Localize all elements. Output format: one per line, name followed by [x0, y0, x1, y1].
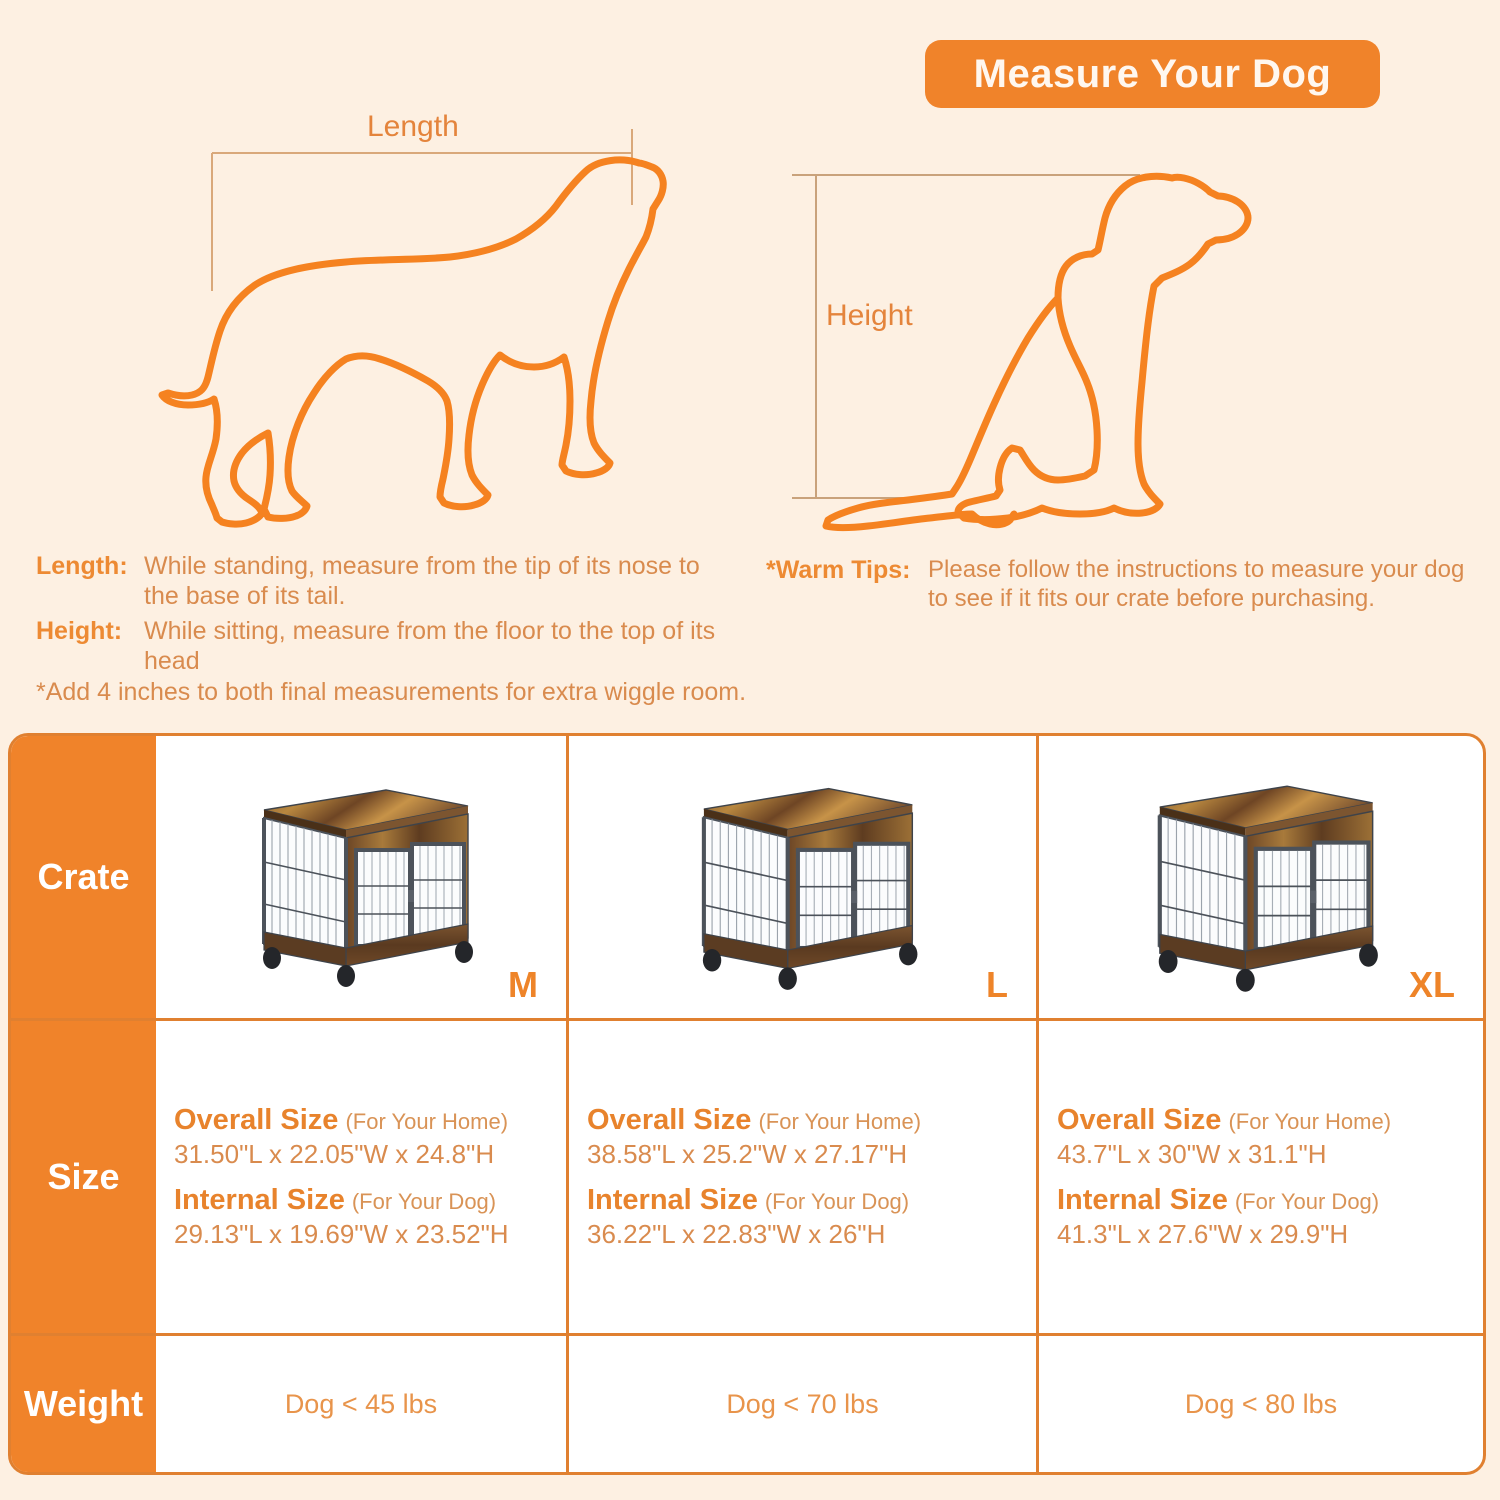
dog-crate-furniture-icon [658, 760, 948, 995]
table-row-crate: Crate [11, 736, 1483, 1021]
overall-value-xl: 43.7"L x 30"W x 31.1"H [1057, 1139, 1465, 1170]
warm-tips-key: *Warm Tips: [766, 556, 928, 614]
overall-sub-m: (For Your Home) [345, 1109, 508, 1134]
internal-heading-l: Internal Size(For Your Dog) [587, 1184, 1018, 1217]
size-comparison-table: Crate [8, 733, 1486, 1475]
table-row-weight: Weight Dog < 45 lbs Dog < 70 lbs Dog < 8… [11, 1336, 1483, 1472]
size-cell-xl: Overall Size(For Your Home) 43.7"L x 30"… [1036, 1021, 1483, 1333]
overall-value-m: 31.50"L x 22.05"W x 24.8"H [174, 1139, 548, 1170]
dog-sitting-diagram [780, 150, 1300, 545]
size-cell-m: Overall Size(For Your Home) 31.50"L x 22… [156, 1021, 566, 1333]
overall-heading-l: Overall Size(For Your Home) [587, 1104, 1018, 1137]
crate-cell-l: L [566, 736, 1036, 1018]
internal-value-m: 29.13"L x 19.69"W x 23.52"H [174, 1219, 548, 1250]
badge-label: Measure Your Dog [974, 52, 1332, 97]
dog-crate-furniture-icon [236, 762, 486, 992]
overall-label-l: Overall Size [587, 1104, 751, 1136]
instruction-length-text: While standing, measure from the tip of … [144, 552, 736, 611]
internal-value-xl: 41.3"L x 27.6"W x 29.9"H [1057, 1219, 1465, 1250]
weight-cell-m: Dog < 45 lbs [156, 1336, 566, 1472]
internal-heading-xl: Internal Size(For Your Dog) [1057, 1184, 1465, 1217]
weight-value-xl: Dog < 80 lbs [1185, 1389, 1337, 1420]
row-label-weight: Weight [11, 1336, 156, 1472]
internal-sub-m: (For Your Dog) [352, 1189, 496, 1214]
internal-value-l: 36.22"L x 22.83"W x 26"H [587, 1219, 1018, 1250]
row-label-crate: Crate [11, 736, 156, 1018]
overall-value-l: 38.58"L x 25.2"W x 27.17"H [587, 1139, 1018, 1170]
weight-value-l: Dog < 70 lbs [726, 1389, 878, 1420]
size-tag-xl: XL [1409, 964, 1455, 1006]
crate-image-l [569, 736, 1036, 1018]
internal-label-m: Internal Size [174, 1184, 345, 1216]
instruction-length: Length: While standing, measure from the… [36, 552, 736, 611]
row-label-size: Size [11, 1021, 156, 1333]
measure-your-dog-badge: Measure Your Dog [925, 40, 1380, 108]
overall-label-xl: Overall Size [1057, 1104, 1221, 1136]
crate-cell-xl: XL [1036, 736, 1483, 1018]
instructions-block: Length: While standing, measure from the… [36, 552, 736, 682]
size-tag-l: L [986, 964, 1008, 1006]
instruction-height-key: Height: [36, 617, 144, 676]
instruction-height: Height: While sitting, measure from the … [36, 617, 736, 676]
infographic-root: Measure Your Dog Length Height [0, 0, 1500, 1500]
length-dimension-label: Length [367, 110, 459, 144]
weight-cell-l: Dog < 70 lbs [566, 1336, 1036, 1472]
wiggle-room-note: *Add 4 inches to both final measurements… [36, 678, 746, 707]
overall-sub-l: (For Your Home) [758, 1109, 921, 1134]
overall-heading-m: Overall Size(For Your Home) [174, 1104, 548, 1137]
dog-standing-outline-icon [150, 105, 670, 535]
crate-image-m [156, 736, 566, 1018]
weight-cell-xl: Dog < 80 lbs [1036, 1336, 1483, 1472]
overall-label-m: Overall Size [174, 1104, 338, 1136]
size-cell-l: Overall Size(For Your Home) 38.58"L x 25… [566, 1021, 1036, 1333]
height-dimension-label: Height [826, 299, 913, 333]
overall-heading-xl: Overall Size(For Your Home) [1057, 1104, 1465, 1137]
internal-label-xl: Internal Size [1057, 1184, 1228, 1216]
weight-value-m: Dog < 45 lbs [285, 1389, 437, 1420]
size-tag-m: M [508, 964, 538, 1006]
warm-tips-block: *Warm Tips: Please follow the instructio… [766, 556, 1486, 614]
overall-sub-xl: (For Your Home) [1228, 1109, 1391, 1134]
dog-crate-furniture-icon [1096, 757, 1426, 997]
dog-sitting-outline-icon [780, 150, 1300, 545]
dog-standing-diagram [150, 105, 670, 535]
crate-cell-m: M [156, 736, 566, 1018]
internal-label-l: Internal Size [587, 1184, 758, 1216]
internal-sub-xl: (For Your Dog) [1235, 1189, 1379, 1214]
warm-tips-text: Please follow the instructions to measur… [928, 556, 1486, 614]
table-row-size: Size Overall Size(For Your Home) 31.50"L… [11, 1021, 1483, 1336]
internal-sub-l: (For Your Dog) [765, 1189, 909, 1214]
size-body-l: Overall Size(For Your Home) 38.58"L x 25… [569, 1104, 1036, 1250]
internal-heading-m: Internal Size(For Your Dog) [174, 1184, 548, 1217]
size-body-m: Overall Size(For Your Home) 31.50"L x 22… [156, 1104, 566, 1250]
instruction-height-text: While sitting, measure from the floor to… [144, 617, 736, 676]
instruction-length-key: Length: [36, 552, 144, 611]
size-body-xl: Overall Size(For Your Home) 43.7"L x 30"… [1039, 1104, 1483, 1250]
